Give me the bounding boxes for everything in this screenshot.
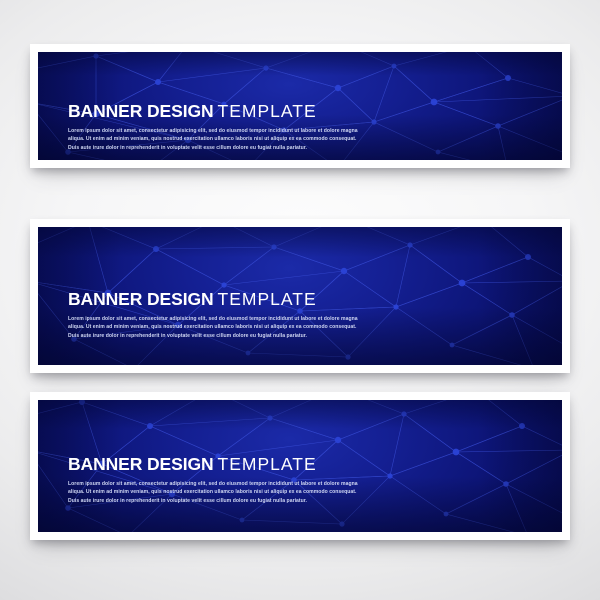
banner-content-2: BANNER DESIGNTEMPLATE Lorem ipsum dolor … bbox=[68, 290, 536, 340]
headline-strong-2: BANNER DESIGN bbox=[68, 289, 214, 309]
banner-headline-2: BANNER DESIGNTEMPLATE bbox=[68, 290, 536, 308]
headline-strong-1: BANNER DESIGN bbox=[68, 101, 214, 121]
headline-light-2: TEMPLATE bbox=[218, 289, 317, 309]
banner-card-2[interactable]: BANNER DESIGNTEMPLATE Lorem ipsum dolor … bbox=[30, 219, 570, 373]
banner-headline-3: BANNER DESIGNTEMPLATE bbox=[68, 455, 536, 473]
banner-headline-1: BANNER DESIGNTEMPLATE bbox=[68, 102, 536, 120]
headline-strong-3: BANNER DESIGN bbox=[68, 454, 214, 474]
banner-canvas-2: BANNER DESIGNTEMPLATE Lorem ipsum dolor … bbox=[38, 227, 562, 365]
banner-card-3[interactable]: BANNER DESIGNTEMPLATE Lorem ipsum dolor … bbox=[30, 392, 570, 540]
banner-body-1: Lorem ipsum dolor sit amet, consectetur … bbox=[68, 127, 368, 152]
banner-content-3: BANNER DESIGNTEMPLATE Lorem ipsum dolor … bbox=[68, 455, 536, 505]
banner-content-1: BANNER DESIGNTEMPLATE Lorem ipsum dolor … bbox=[68, 102, 536, 152]
banner-artboard: BANNER DESIGNTEMPLATE Lorem ipsum dolor … bbox=[0, 0, 600, 600]
banner-card-1[interactable]: BANNER DESIGNTEMPLATE Lorem ipsum dolor … bbox=[30, 44, 570, 168]
banner-body-3: Lorem ipsum dolor sit amet, consectetur … bbox=[68, 480, 368, 505]
headline-light-3: TEMPLATE bbox=[218, 454, 317, 474]
banner-canvas-3: BANNER DESIGNTEMPLATE Lorem ipsum dolor … bbox=[38, 400, 562, 532]
headline-light-1: TEMPLATE bbox=[218, 101, 317, 121]
banner-canvas-1: BANNER DESIGNTEMPLATE Lorem ipsum dolor … bbox=[38, 52, 562, 160]
banner-body-2: Lorem ipsum dolor sit amet, consectetur … bbox=[68, 315, 368, 340]
